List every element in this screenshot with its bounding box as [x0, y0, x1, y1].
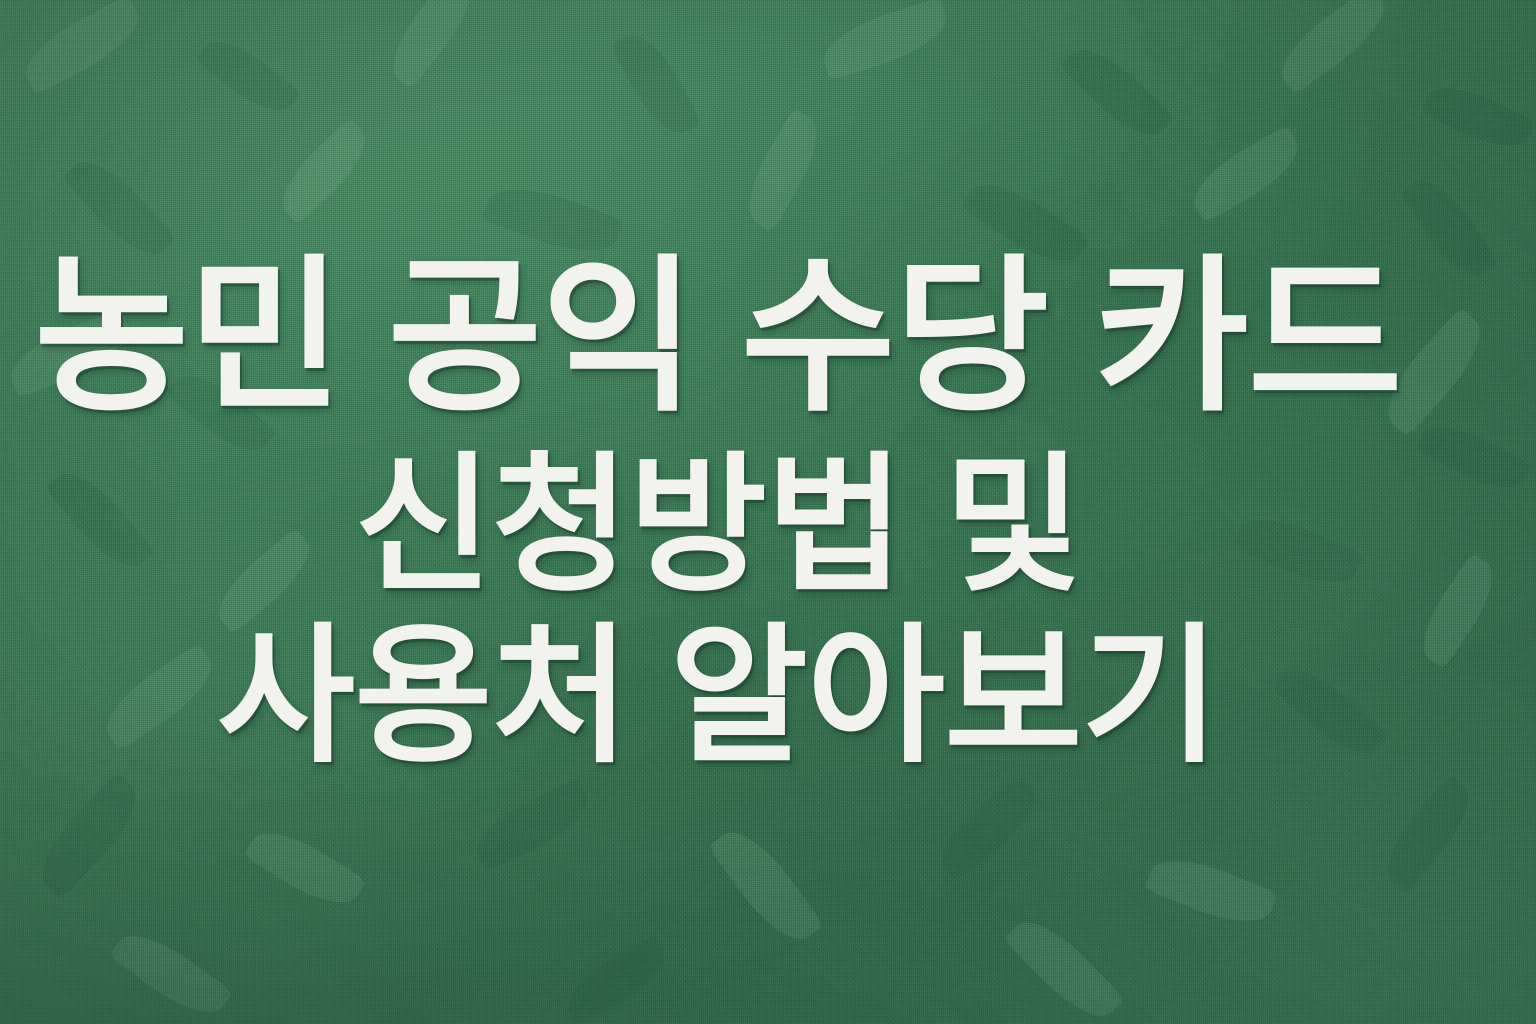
headline-line-3: 사용처 알아보기 [217, 611, 1219, 782]
headline-block: 농민 공익 수당 카드 신청방법 및 사용처 알아보기 [0, 0, 1436, 1024]
headline-line-1: 농민 공익 수당 카드 [34, 242, 1401, 434]
headline-line-2: 신청방법 및 [354, 440, 1081, 611]
poster-canvas: 농민 공익 수당 카드 신청방법 및 사용처 알아보기 [0, 0, 1536, 1024]
